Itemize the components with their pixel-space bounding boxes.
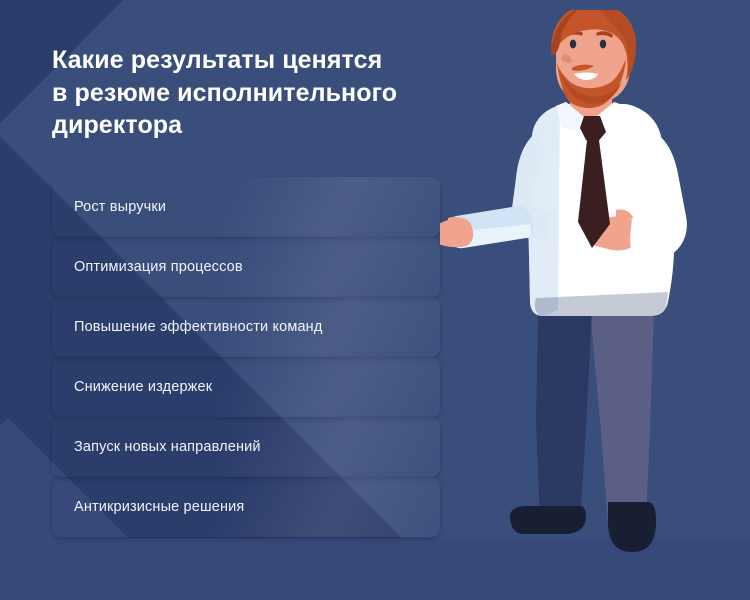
list-item[interactable]: Снижение издержек: [52, 357, 440, 417]
shoe-left: [510, 506, 586, 534]
list-item[interactable]: Рост выручки: [52, 177, 440, 237]
leg-right: [590, 310, 654, 522]
list-item-label: Повышение эффективности команд: [52, 319, 322, 335]
list-item-label: Снижение издержек: [52, 379, 212, 395]
list-item[interactable]: Запуск новых направлений: [52, 417, 440, 477]
eye-left: [570, 40, 576, 49]
list-item[interactable]: Оптимизация процессов: [52, 237, 440, 297]
list-item[interactable]: Антикризисные решения: [52, 477, 440, 537]
list-item-label: Рост выручки: [52, 199, 166, 215]
list-item-label: Оптимизация процессов: [52, 259, 243, 275]
list-item-label: Антикризисные решения: [52, 499, 244, 515]
page-title-line-1: Какие результаты ценятся: [52, 44, 472, 77]
eye-right: [600, 40, 606, 49]
list-item[interactable]: Повышение эффективности команд: [52, 297, 440, 357]
hand-extended: [440, 218, 473, 247]
infographic-canvas: Какие результаты ценятся в резюме исполн…: [0, 0, 750, 600]
page-title-line-3: директора: [52, 109, 472, 142]
shoe-right: [608, 502, 656, 552]
results-list: Рост выручки Оптимизация процессов Повыш…: [52, 177, 440, 537]
page-title: Какие результаты ценятся в резюме исполн…: [52, 44, 472, 142]
businessman-character: [440, 10, 750, 590]
leg-left: [536, 310, 592, 524]
list-item-label: Запуск новых направлений: [52, 439, 261, 455]
page-title-line-2: в резюме исполнительного: [52, 77, 472, 110]
